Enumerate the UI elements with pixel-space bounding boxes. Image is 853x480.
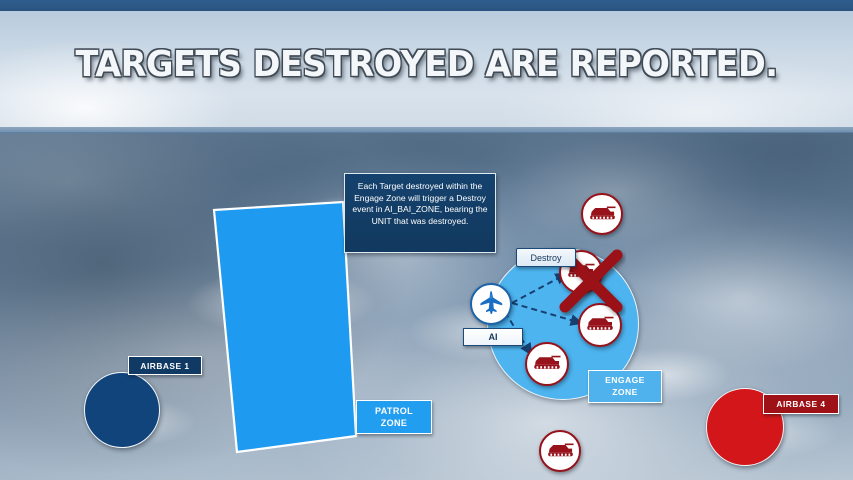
explanation-callout: Each Target destroyed within the Engage …	[344, 173, 496, 253]
engage-zone-label-line1: ENGAGE	[605, 375, 645, 387]
patrol-zone-label: PATROL ZONE	[356, 400, 432, 434]
aircraft-unit-icon[interactable]	[470, 283, 512, 325]
tank-icon	[532, 353, 562, 375]
target-unit-icon-north-outside[interactable]	[581, 193, 623, 235]
slide-canvas: TARGETS DESTROYED ARE REPORTED.	[0, 0, 853, 480]
target-unit-icon-south[interactable]	[525, 342, 569, 386]
tank-icon	[546, 441, 575, 462]
patrol-zone-label-line1: PATROL	[375, 405, 413, 417]
patrol-zone-label-line2: ZONE	[381, 417, 408, 429]
destroy-event-label: Destroy	[516, 248, 576, 267]
engage-zone-label-line2: ZONE	[612, 387, 637, 399]
tank-icon	[588, 204, 617, 225]
target-unit-icon-south-outside[interactable]	[539, 430, 581, 472]
airbase-1-label: AIRBASE 1	[128, 356, 202, 375]
airbase-4-label: AIRBASE 4	[763, 394, 839, 414]
tank-icon	[585, 314, 615, 336]
fighter-jet-icon	[477, 290, 505, 318]
ai-unit-label: AI	[463, 328, 523, 346]
engage-zone-label: ENGAGE ZONE	[588, 370, 662, 403]
airbase-1-marker[interactable]	[84, 372, 160, 448]
